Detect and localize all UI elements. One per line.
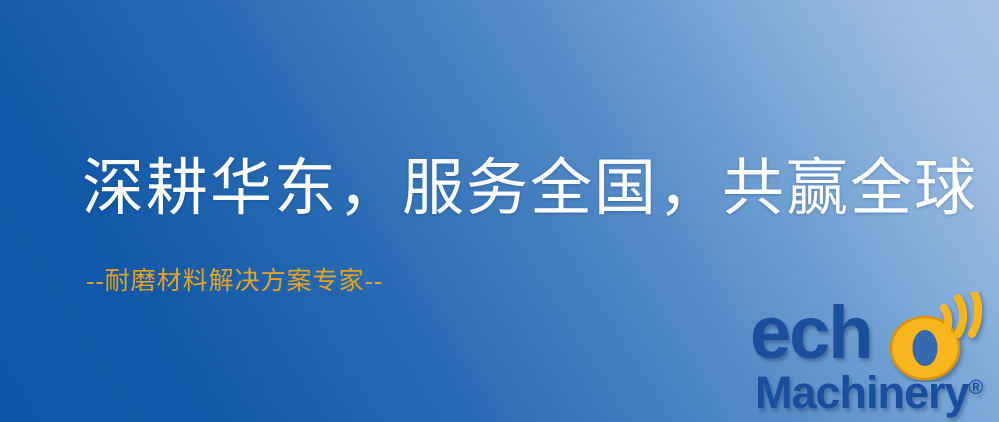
logo-wordmark-ech: ech [750,296,872,370]
banner-subtitle: --耐磨材料解决方案专家-- [86,266,383,298]
banner-headline: 深耕华东，服务全国，共赢全球 [82,150,978,228]
logo-sub-text: Machinery [755,367,969,418]
registered-trademark-icon: ® [969,377,984,399]
promo-banner: 深耕华东，服务全国，共赢全球 --耐磨材料解决方案专家-- ech Ma [0,0,999,422]
echo-machinery-logo: ech Machinery® [744,296,999,422]
logo-sub-machinery: Machinery® [755,366,983,415]
